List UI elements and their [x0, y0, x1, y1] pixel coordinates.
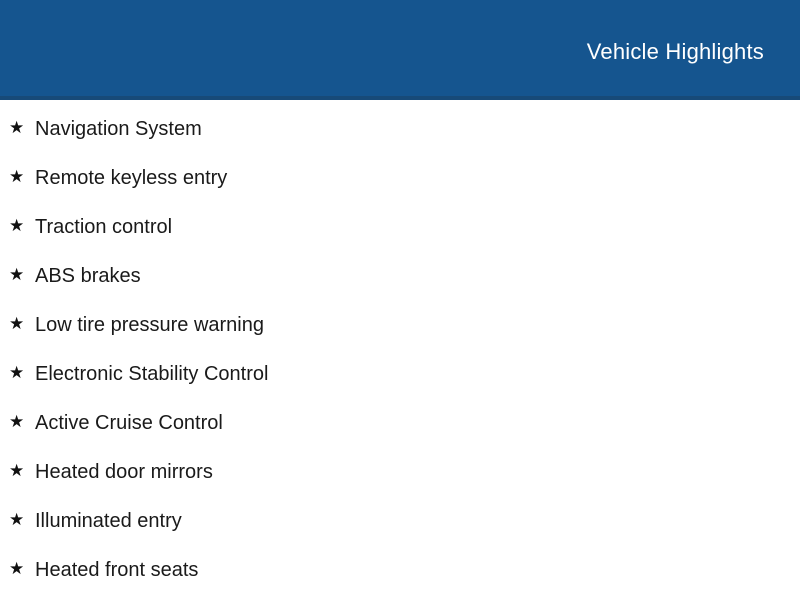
list-item-label: Electronic Stability Control [35, 362, 800, 386]
star-icon: ★ [9, 315, 35, 332]
list-item-label: ABS brakes [35, 264, 800, 288]
list-item: ★ Traction control [0, 202, 800, 251]
list-item-label: Traction control [35, 215, 800, 239]
star-icon: ★ [9, 168, 35, 185]
page-header: Vehicle Highlights [0, 0, 800, 100]
list-item: ★ Heated door mirrors [0, 447, 800, 496]
list-item: ★ Electronic Stability Control [0, 349, 800, 398]
list-item-label: Active Cruise Control [35, 411, 800, 435]
list-item: ★ Active Cruise Control [0, 398, 800, 447]
list-item-label: Heated front seats [35, 558, 800, 582]
page-title: Vehicle Highlights [587, 41, 764, 63]
list-item-label: Low tire pressure warning [35, 313, 800, 337]
list-item-label: Heated door mirrors [35, 460, 800, 484]
list-item: ★ ABS brakes [0, 251, 800, 300]
list-item: ★ Heated front seats [0, 545, 800, 594]
star-icon: ★ [9, 511, 35, 528]
list-item-label: Navigation System [35, 117, 800, 141]
list-item: ★ Low tire pressure warning [0, 300, 800, 349]
star-icon: ★ [9, 560, 35, 577]
star-icon: ★ [9, 413, 35, 430]
vehicle-highlights-list: ★ Navigation System ★ Remote keyless ent… [0, 104, 800, 594]
list-item: ★ Navigation System [0, 104, 800, 153]
star-icon: ★ [9, 364, 35, 381]
star-icon: ★ [9, 119, 35, 136]
list-item-label: Illuminated entry [35, 509, 800, 533]
list-item-label: Remote keyless entry [35, 166, 800, 190]
list-item: ★ Remote keyless entry [0, 153, 800, 202]
star-icon: ★ [9, 266, 35, 283]
list-item: ★ Illuminated entry [0, 496, 800, 545]
star-icon: ★ [9, 462, 35, 479]
vehicle-highlights-page: Vehicle Highlights ★ Navigation System ★… [0, 0, 800, 600]
star-icon: ★ [9, 217, 35, 234]
